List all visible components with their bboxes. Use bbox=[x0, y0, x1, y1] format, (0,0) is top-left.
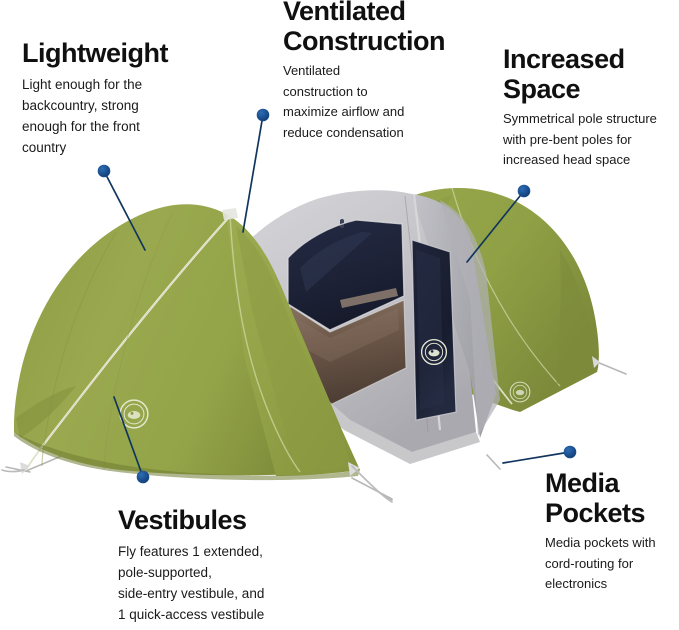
callout-body-vestibules: Fly features 1 extended, pole-supported,… bbox=[118, 541, 333, 625]
callout-dot-ventilated-construction[interactable] bbox=[257, 109, 269, 121]
callout-body-increased-space: Symmetrical pole structure with pre-bent… bbox=[503, 109, 679, 171]
tent-canopy bbox=[232, 190, 500, 464]
brand-logo-icon bbox=[120, 400, 148, 428]
callout-leader-line-vestibules bbox=[114, 397, 143, 477]
callout-leaders bbox=[104, 115, 570, 477]
callout-dot-vestibules[interactable] bbox=[137, 471, 149, 483]
callout-leader-line-ventilated-construction bbox=[243, 115, 263, 232]
callout-dot-media-pockets[interactable] bbox=[564, 446, 576, 458]
callout-title-lightweight: Lightweight bbox=[22, 38, 207, 68]
callout-increased-space: Increased Space Symmetrical pole structu… bbox=[503, 44, 679, 171]
callout-title-ventilated-construction: Ventilated Construction bbox=[283, 0, 475, 56]
callout-media-pockets: Media Pockets Media pockets with cord-ro… bbox=[545, 468, 679, 595]
callout-body-lightweight: Light enough for the backcountry, strong… bbox=[22, 74, 207, 158]
callout-title-increased-space: Increased Space bbox=[503, 44, 679, 104]
callout-lightweight: Lightweight Light enough for the backcou… bbox=[22, 38, 207, 158]
callout-dot-increased-space[interactable] bbox=[518, 185, 530, 197]
guy-lines-front bbox=[2, 466, 392, 502]
callout-dot-lightweight[interactable] bbox=[98, 165, 110, 177]
callout-vestibules: Vestibules Fly features 1 extended, pole… bbox=[118, 505, 333, 625]
brand-logo-icon bbox=[422, 340, 447, 365]
callout-leader-line-media-pockets bbox=[503, 452, 570, 463]
callout-body-ventilated-construction: Ventilated construction to maximize airf… bbox=[283, 61, 475, 143]
front-fly bbox=[14, 204, 360, 480]
callout-body-media-pockets: Media pockets with cord-routing for elec… bbox=[545, 533, 679, 595]
guy-lines bbox=[6, 362, 626, 500]
rear-dome bbox=[330, 188, 600, 412]
callout-leader-line-increased-space bbox=[467, 191, 524, 262]
callout-title-media-pockets: Media Pockets bbox=[545, 468, 679, 528]
callout-leader-line-lightweight bbox=[104, 171, 145, 250]
callout-title-vestibules: Vestibules bbox=[118, 505, 333, 535]
callout-ventilated-construction: Ventilated Construction Ventilated const… bbox=[283, 0, 475, 143]
